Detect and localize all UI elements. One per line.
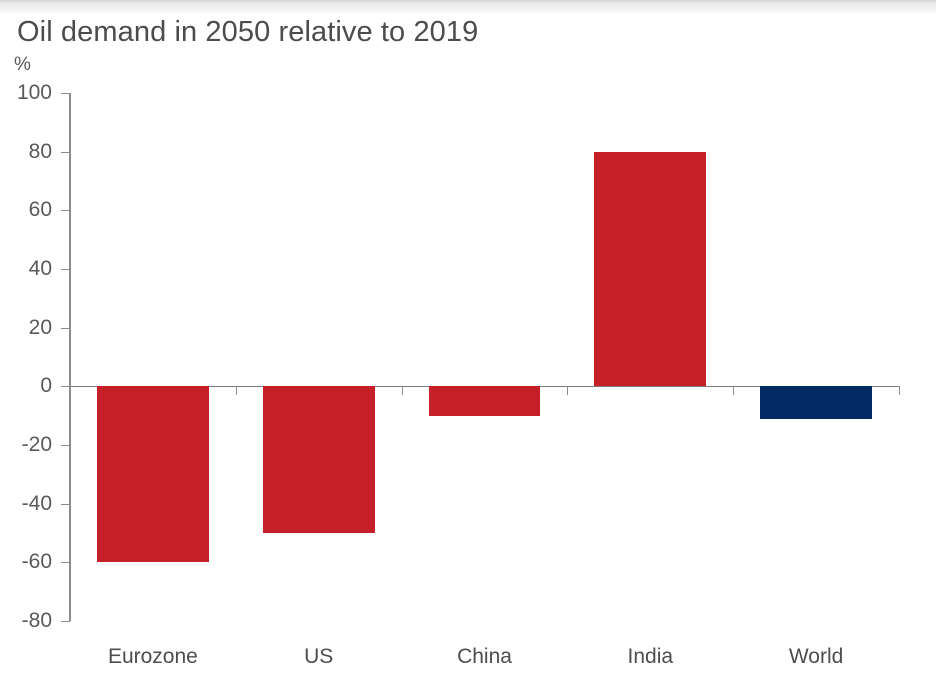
- y-tick-mark: [61, 152, 70, 153]
- x-tick-mark: [733, 386, 734, 395]
- x-tick-label-world: World: [789, 645, 843, 669]
- y-tick-mark: [61, 386, 70, 387]
- y-tick-label: -80: [0, 609, 52, 633]
- x-tick-label-india: India: [628, 645, 674, 669]
- x-tick-label-china: China: [457, 645, 512, 669]
- y-tick-mark: [61, 93, 70, 94]
- x-tick-mark: [70, 386, 71, 395]
- x-tick-mark: [236, 386, 237, 395]
- y-tick-mark: [61, 562, 70, 563]
- bar-india[interactable]: [594, 152, 706, 387]
- y-tick-label: 80: [0, 140, 52, 164]
- plot-area: 100806040200-20-40-60-80 EurozoneUSChina…: [0, 0, 936, 694]
- chart-figure: Oil demand in 2050 relative to 2019 % 10…: [0, 0, 936, 694]
- y-tick-label: -60: [0, 550, 52, 574]
- x-tick-label-us: US: [304, 645, 333, 669]
- y-axis-spine: [69, 93, 71, 621]
- y-tick-label: -40: [0, 492, 52, 516]
- bar-us[interactable]: [263, 386, 375, 533]
- x-tick-label-eurozone: Eurozone: [108, 645, 198, 669]
- bar-eurozone[interactable]: [97, 386, 209, 562]
- y-tick-label: 20: [0, 316, 52, 340]
- y-tick-mark: [61, 328, 70, 329]
- y-tick-label: 100: [0, 81, 52, 105]
- bar-world[interactable]: [760, 386, 872, 418]
- y-tick-mark: [61, 445, 70, 446]
- bar-china[interactable]: [429, 386, 541, 415]
- x-tick-mark: [899, 386, 900, 395]
- y-tick-mark: [61, 504, 70, 505]
- y-tick-mark: [61, 269, 70, 270]
- y-tick-mark: [61, 210, 70, 211]
- y-tick-mark: [61, 621, 70, 622]
- y-tick-label: 40: [0, 257, 52, 281]
- y-tick-label: -20: [0, 433, 52, 457]
- x-tick-mark: [402, 386, 403, 395]
- y-tick-label: 60: [0, 198, 52, 222]
- x-tick-mark: [567, 386, 568, 395]
- y-tick-label: 0: [0, 374, 52, 398]
